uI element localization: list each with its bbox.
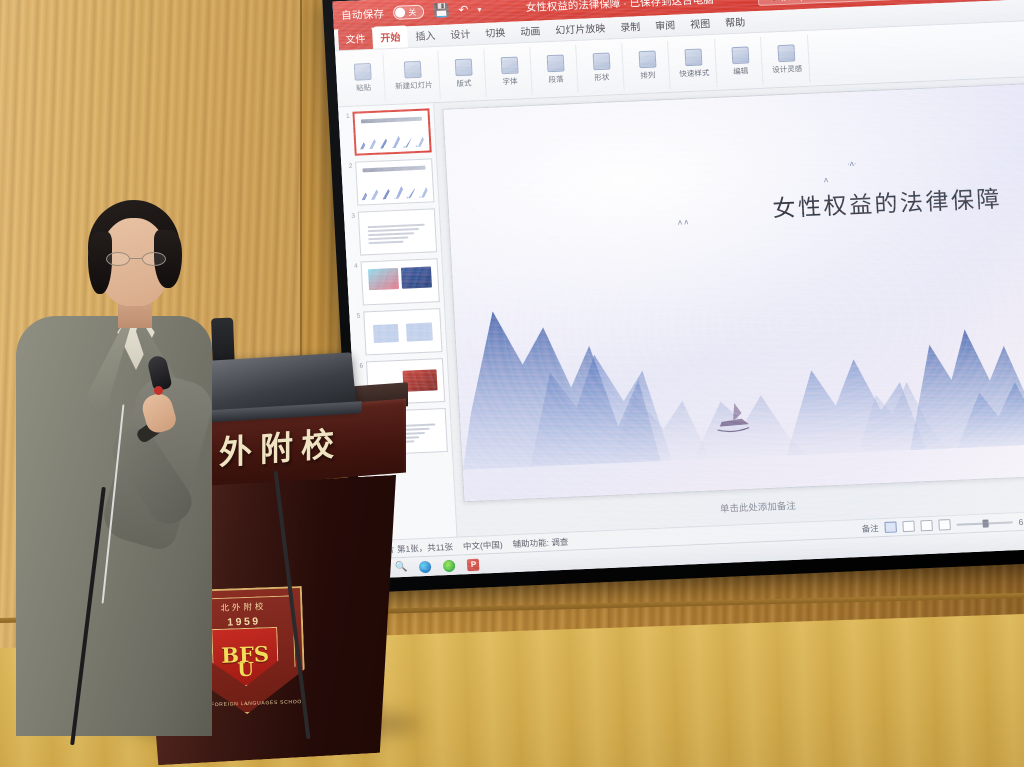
ribbon-tab-5[interactable]: 动画 — [513, 19, 548, 42]
ribbon-group-icon — [546, 54, 564, 72]
ribbon-group-icon — [777, 44, 795, 62]
slide-thumbnail-4[interactable] — [361, 258, 440, 305]
bird-icon-2: ᴧ — [824, 175, 828, 184]
ribbon-tab-3[interactable]: 设计 — [443, 22, 478, 45]
ribbon-group-label: 段落 — [548, 73, 564, 85]
ribbon-tab-4[interactable]: 切换 — [478, 21, 513, 44]
thumbnail-title-bar — [362, 166, 425, 173]
glasses-lens-right — [142, 252, 166, 266]
ribbon-group-icon — [404, 60, 422, 78]
chevron-down-icon[interactable]: ▾ — [477, 5, 481, 14]
ribbon-tab-9[interactable]: 视图 — [683, 12, 718, 35]
ribbon-group-8[interactable]: 编辑 — [718, 36, 763, 86]
ribbon-group-label: 字体 — [502, 75, 518, 87]
zoom-slider-handle[interactable] — [982, 519, 988, 527]
thumbnail-number: 4 — [351, 262, 358, 270]
notes-toggle-button[interactable]: 备注 — [861, 522, 879, 535]
notes-placeholder: 单击此处添加备注 — [719, 498, 796, 515]
edge-icon[interactable] — [419, 560, 432, 573]
thumbnail-text-lines — [367, 224, 428, 245]
bird-icon-3: ᴧ ᴧ — [678, 217, 689, 226]
microphone-indicator — [154, 386, 163, 395]
ribbon-group-label: 新建幻灯片 — [395, 79, 433, 92]
ribbon-tab-8[interactable]: 审阅 — [648, 13, 683, 36]
ribbon-group-6[interactable]: 排列 — [626, 40, 671, 90]
ribbon-group-label: 排列 — [640, 69, 656, 81]
ribbon-group-7[interactable]: 快速样式 — [672, 38, 718, 88]
autosave-label: 自动保存 — [341, 6, 385, 23]
ribbon-tab-0[interactable]: 文件 — [338, 27, 373, 50]
ribbon-group-label: 快速样式 — [679, 67, 710, 79]
thumbnail-column-0 — [372, 324, 398, 344]
ie-icon[interactable] — [443, 559, 456, 572]
ribbon-group-label: 版式 — [456, 77, 472, 89]
presenter-person — [2, 196, 232, 736]
undo-icon[interactable]: ↶ — [458, 3, 469, 17]
wall-mounted-display: 自动保存 关 💾 ↶ ▾ 女性权益的法律保障 · 已保存到这台电脑 🔍 搜索(A… — [322, 0, 1024, 593]
autosave-state-label: 关 — [408, 6, 417, 17]
slide-sorter-icon[interactable] — [902, 521, 915, 533]
thumbnail-number: 5 — [353, 312, 360, 320]
bird-icon-1: ·ᴧ· — [847, 158, 857, 167]
ribbon-group-label: 设计灵感 — [772, 63, 803, 75]
ribbon-group-2[interactable]: 版式 — [442, 48, 487, 98]
zoom-slider[interactable] — [957, 521, 1013, 525]
save-icon[interactable]: 💾 — [433, 2, 450, 19]
autosave-toggle-knob — [395, 7, 406, 17]
ribbon-tab-7[interactable]: 录制 — [613, 15, 648, 38]
autosave-toggle[interactable]: 关 — [393, 5, 425, 20]
language-indicator[interactable]: 中文(中国) — [463, 538, 503, 552]
ribbon-group-9[interactable]: 设计灵感 — [764, 34, 810, 84]
ribbon-group-3[interactable]: 字体 — [488, 46, 533, 96]
ribbon-group-label: 形状 — [594, 71, 610, 83]
ribbon-tab-2[interactable]: 插入 — [408, 24, 443, 47]
ribbon-tab-10[interactable]: 帮助 — [718, 10, 753, 33]
thumbnail-number: 6 — [356, 362, 363, 370]
display-screen: 自动保存 关 💾 ↶ ▾ 女性权益的法律保障 · 已保存到这台电脑 🔍 搜索(A… — [332, 0, 1024, 579]
search-icon: 🔍 — [764, 0, 776, 2]
presenter-glasses — [106, 252, 166, 266]
ribbon-group-4[interactable]: 段落 — [534, 44, 579, 94]
powerpoint-window: 自动保存 关 💾 ↶ ▾ 女性权益的法律保障 · 已保存到这台电脑 🔍 搜索(A… — [332, 0, 1024, 579]
ribbon-tab-1[interactable]: 开始 — [373, 25, 408, 48]
ribbon-group-label: 编辑 — [733, 65, 749, 77]
ribbon-group-icon — [454, 58, 472, 76]
thumbnail-image-block — [368, 268, 399, 290]
ribbon-group-icon — [354, 62, 372, 80]
editor-work-area: 1234567 — [338, 77, 1024, 541]
reading-view-icon[interactable] — [920, 520, 933, 532]
thumbnail-text-block — [401, 266, 432, 288]
thumbnail-row[interactable]: 5 — [353, 308, 442, 356]
ribbon-group-icon — [592, 52, 610, 70]
powerpoint-icon[interactable]: P — [467, 558, 480, 571]
search-input[interactable]: 搜索(Alt+Q) — [781, 0, 828, 2]
thumbnail-mountain-art — [358, 128, 426, 149]
thumbnail-number: 3 — [348, 212, 355, 220]
accessibility-status[interactable]: 辅助功能: 调查 — [512, 535, 568, 549]
glasses-lens-left — [106, 252, 130, 266]
ribbon-group-5[interactable]: 形状 — [580, 42, 625, 92]
ink-mountain-artwork — [451, 217, 1024, 470]
glasses-bridge — [130, 258, 142, 259]
slideshow-icon[interactable] — [938, 519, 951, 531]
ribbon-group-label: 粘贴 — [356, 81, 372, 93]
thumbnail-row[interactable]: 3 — [348, 208, 437, 256]
zoom-level-label[interactable]: 61% — [1018, 516, 1024, 527]
thumbnail-row[interactable]: 2 — [345, 158, 434, 206]
thumbnail-row[interactable]: 1 — [342, 108, 431, 156]
ribbon-tab-6[interactable]: 幻灯片放映 — [548, 16, 613, 41]
thumbnail-number: 1 — [342, 112, 349, 120]
crest-sub-letter: U — [237, 659, 254, 682]
slide-stage: 女性权益的法律保障 ·ᴧ· ᴧ ᴧ ᴧ 单击此处添加备注 — [434, 77, 1024, 537]
normal-view-icon[interactable] — [884, 521, 897, 533]
thumbnail-column-1 — [406, 322, 432, 342]
thumbnail-mountain-art — [360, 178, 430, 200]
slide-thumbnail-2[interactable] — [355, 158, 434, 205]
current-slide[interactable]: 女性权益的法律保障 ·ᴧ· ᴧ ᴧ ᴧ — [442, 83, 1024, 502]
slide-thumbnail-5[interactable] — [363, 308, 442, 355]
ribbon-group-0[interactable]: 粘贴 — [341, 53, 386, 103]
thumbnail-title-bar — [361, 116, 423, 123]
conference-room-scene: 自动保存 关 💾 ↶ ▾ 女性权益的法律保障 · 已保存到这台电脑 🔍 搜索(A… — [0, 0, 1024, 767]
ribbon-group-icon — [731, 46, 749, 64]
ribbon-group-icon — [500, 56, 518, 74]
ribbon-group-1[interactable]: 新建幻灯片 — [387, 51, 440, 101]
ribbon-group-icon — [684, 48, 702, 66]
slide-thumbnail-3[interactable] — [358, 208, 437, 255]
ribbon-group-icon — [638, 50, 656, 68]
thumbnail-row[interactable]: 4 — [351, 258, 440, 306]
thumbnail-number: 2 — [345, 162, 352, 170]
slide-thumbnail-1[interactable] — [352, 108, 431, 155]
